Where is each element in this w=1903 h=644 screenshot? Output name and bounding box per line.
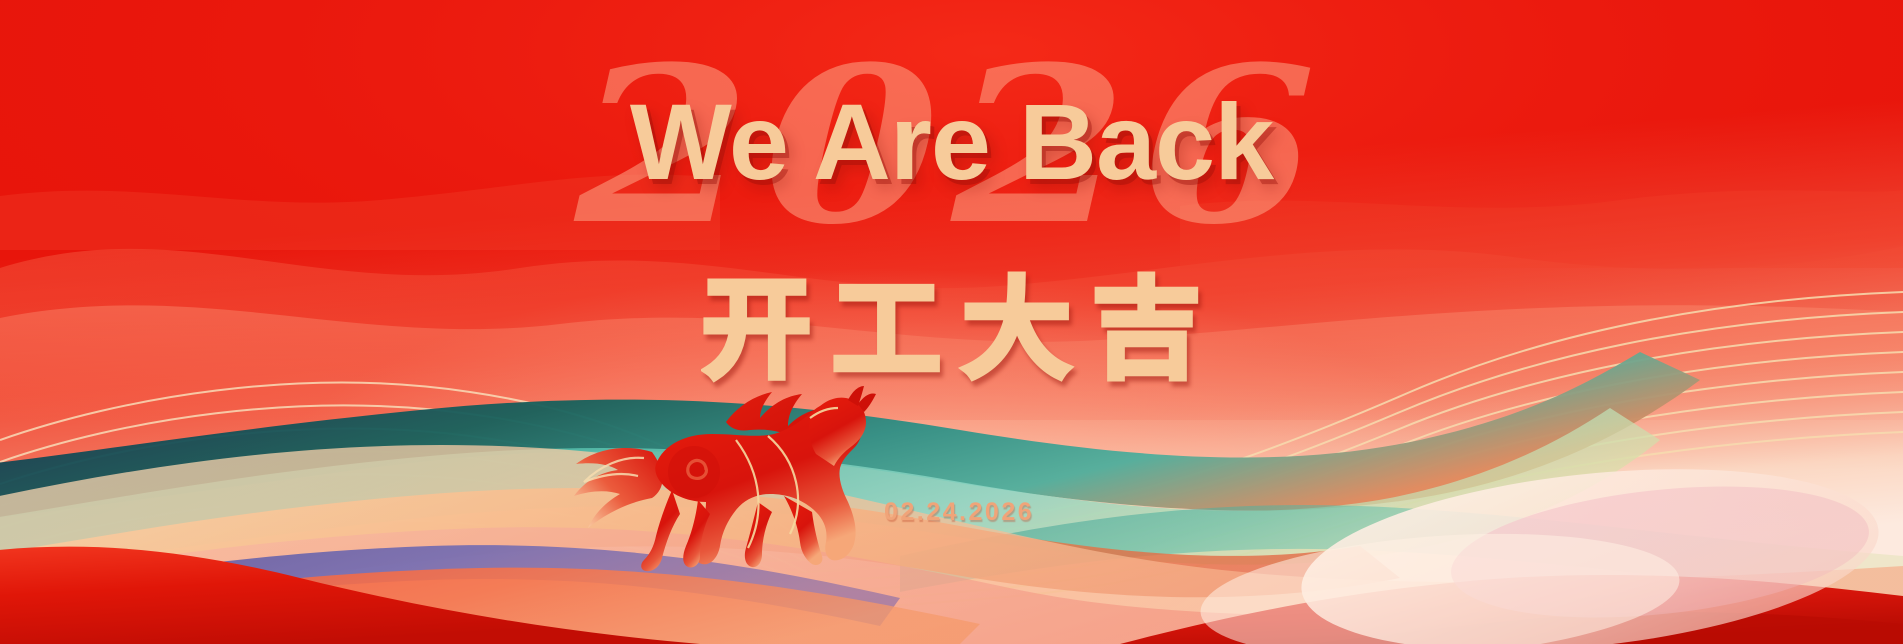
chinese-greeting: 开工大吉: [0, 272, 1903, 391]
galloping-horse-icon: [560, 378, 890, 578]
event-date: 02.24.2026: [884, 498, 1034, 527]
page-title: We Are Back: [0, 88, 1903, 196]
new-year-banner: 2026 We Are Back 开工大吉: [0, 0, 1903, 644]
